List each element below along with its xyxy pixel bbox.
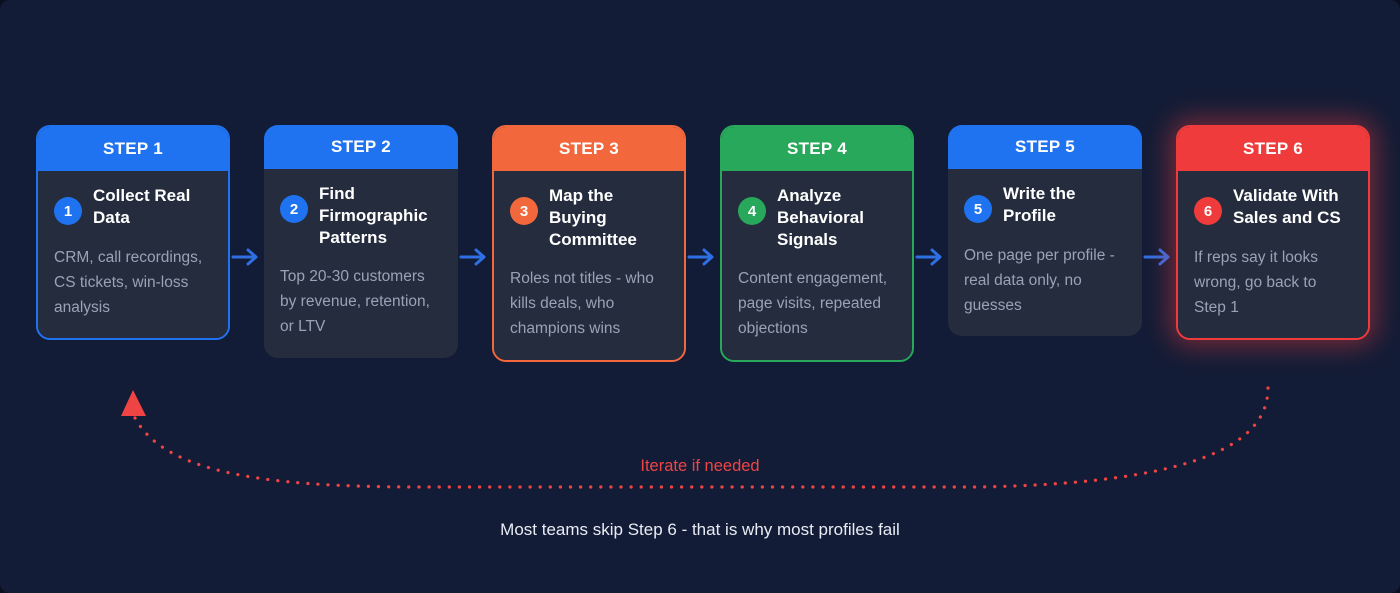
step-card-5[interactable]: STEP 55Write the ProfileOne page per pro… [948, 125, 1142, 336]
step-description-2: Top 20-30 customers by revenue, retentio… [280, 264, 442, 339]
step-body-6: 6Validate With Sales and CSIf reps say i… [1178, 171, 1368, 338]
footer-note: Most teams skip Step 6 - that is why mos… [0, 520, 1400, 540]
step-card-1[interactable]: STEP 11Collect Real DataCRM, call record… [36, 125, 230, 340]
arrow-right-icon [686, 245, 720, 269]
arrow-right-icon [1142, 245, 1176, 269]
arrow-right-icon [914, 245, 948, 269]
steps-row: STEP 11Collect Real DataCRM, call record… [36, 125, 1364, 362]
step-title-row: 6Validate With Sales and CS [1194, 185, 1352, 229]
step-title-5: Write the Profile [1003, 183, 1126, 227]
step-card-2[interactable]: STEP 22Find Firmographic PatternsTop 20-… [264, 125, 458, 358]
step-title-2: Find Firmographic Patterns [319, 183, 442, 248]
step-number-badge-2: 2 [280, 195, 308, 223]
step-description-5: One page per profile - real data only, n… [964, 243, 1126, 318]
step-body-1: 1Collect Real DataCRM, call recordings, … [38, 171, 228, 338]
step-title-row: 2Find Firmographic Patterns [280, 183, 442, 248]
iterate-label: Iterate if needed [0, 457, 1400, 476]
step-title-6: Validate With Sales and CS [1233, 185, 1352, 229]
step-body-2: 2Find Firmographic PatternsTop 20-30 cus… [264, 169, 458, 358]
step-title-1: Collect Real Data [93, 185, 212, 229]
step-title-4: Analyze Behavioral Signals [777, 185, 896, 250]
step-header-3: STEP 3 [494, 127, 684, 171]
step-number-badge-5: 5 [964, 195, 992, 223]
step-body-4: 4Analyze Behavioral SignalsContent engag… [722, 171, 912, 360]
step-number-badge-3: 3 [510, 197, 538, 225]
feedback-arrowhead-icon [121, 390, 146, 416]
step-description-6: If reps say it looks wrong, go back to S… [1194, 245, 1352, 320]
step-body-3: 3Map the Buying CommitteeRoles not title… [494, 171, 684, 360]
arrow-right-icon [458, 245, 492, 269]
step-header-6: STEP 6 [1178, 127, 1368, 171]
step-title-row: 1Collect Real Data [54, 185, 212, 229]
step-number-badge-4: 4 [738, 197, 766, 225]
step-body-5: 5Write the ProfileOne page per profile -… [948, 169, 1142, 336]
step-description-1: CRM, call recordings, CS tickets, win-lo… [54, 245, 212, 320]
step-header-1: STEP 1 [38, 127, 228, 171]
step-card-3[interactable]: STEP 33Map the Buying CommitteeRoles not… [492, 125, 686, 362]
step-title-3: Map the Buying Committee [549, 185, 668, 250]
step-header-4: STEP 4 [722, 127, 912, 171]
step-card-6[interactable]: STEP 66Validate With Sales and CSIf reps… [1176, 125, 1370, 340]
step-title-row: 4Analyze Behavioral Signals [738, 185, 896, 250]
step-number-badge-1: 1 [54, 197, 82, 225]
step-header-2: STEP 2 [264, 125, 458, 169]
step-description-3: Roles not titles - who kills deals, who … [510, 266, 668, 341]
arrow-right-icon [230, 245, 264, 269]
feedback-loop [0, 380, 1400, 510]
step-title-row: 5Write the Profile [964, 183, 1126, 227]
step-header-5: STEP 5 [948, 125, 1142, 169]
step-description-4: Content engagement, page visits, repeate… [738, 266, 896, 341]
step-number-badge-6: 6 [1194, 197, 1222, 225]
step-card-4[interactable]: STEP 44Analyze Behavioral SignalsContent… [720, 125, 914, 362]
diagram-canvas: STEP 11Collect Real DataCRM, call record… [0, 0, 1400, 593]
step-title-row: 3Map the Buying Committee [510, 185, 668, 250]
